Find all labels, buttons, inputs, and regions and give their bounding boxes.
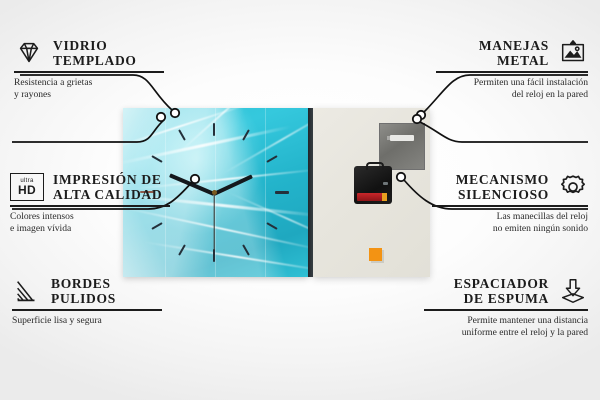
- callout-description: Resistencia a grietas y rayones: [14, 77, 164, 101]
- callout-rule: [432, 205, 588, 207]
- hanger-plate: [379, 123, 425, 170]
- callout-description: Superficie lisa y segura: [12, 315, 162, 327]
- ultra-hd-icon: ultra HD: [10, 173, 44, 201]
- callout-rule: [436, 71, 588, 73]
- callout-title: VIDRIO TEMPLADO: [53, 38, 137, 68]
- clock-pivot: [212, 190, 217, 195]
- callout-title: MECANISMO SILENCIOSO: [456, 172, 549, 202]
- callout-mecanismo-silencioso: MECANISMO SILENCIOSO Las manecillas del …: [432, 172, 588, 235]
- battery-terminal: [382, 193, 387, 201]
- callout-rule: [12, 309, 162, 311]
- mechanism-label: [383, 182, 388, 185]
- callout-manejas-metal: MANEJAS METAL Permiten una fácil instala…: [436, 38, 588, 101]
- callout-title: BORDES PULIDOS: [51, 276, 116, 306]
- ultra-hd-icon-bottom: HD: [18, 184, 36, 196]
- callout-impresion-alta-calidad: ultra HD IMPRESIÓN DE ALTA CALIDAD Color…: [10, 172, 170, 235]
- callout-rule: [10, 205, 170, 207]
- callout-description: Las manecillas del reloj no emiten ningú…: [432, 211, 588, 235]
- foam-spacer-arrow-icon: [558, 276, 588, 306]
- mechanism-hook: [366, 162, 384, 170]
- callout-espaciador-espuma: ESPACIADOR DE ESPUMA Permite mantener un…: [424, 276, 588, 339]
- clock-back: [313, 108, 430, 277]
- picture-frame-hanger-icon: [558, 38, 588, 68]
- callout-bordes-pulidos: BORDES PULIDOS Superficie lisa y segura: [12, 276, 162, 327]
- infographic-canvas: VIDRIO TEMPLADO Resistencia a grietas y …: [0, 0, 600, 400]
- clock-mechanism: [354, 166, 392, 204]
- diamond-icon: [14, 38, 44, 68]
- callout-title: MANEJAS METAL: [479, 38, 549, 68]
- foam-spacer: [369, 248, 382, 261]
- polished-edges-icon: [12, 276, 42, 306]
- clock-second-hand: [213, 193, 214, 251]
- callout-description: Colores intensos e imagen vívida: [10, 211, 170, 235]
- battery: [357, 193, 387, 201]
- hanger-slot: [390, 135, 414, 141]
- callout-description: Permite mantener una distancia uniforme …: [424, 315, 588, 339]
- callout-title: ESPACIADOR DE ESPUMA: [454, 276, 549, 306]
- gear-icon: [558, 172, 588, 202]
- callout-rule: [14, 71, 164, 73]
- callout-title: IMPRESIÓN DE ALTA CALIDAD: [53, 172, 162, 202]
- callout-rule: [424, 309, 588, 311]
- callout-description: Permiten una fácil instalación del reloj…: [436, 77, 588, 101]
- callout-vidrio-templado: VIDRIO TEMPLADO Resistencia a grietas y …: [14, 38, 164, 101]
